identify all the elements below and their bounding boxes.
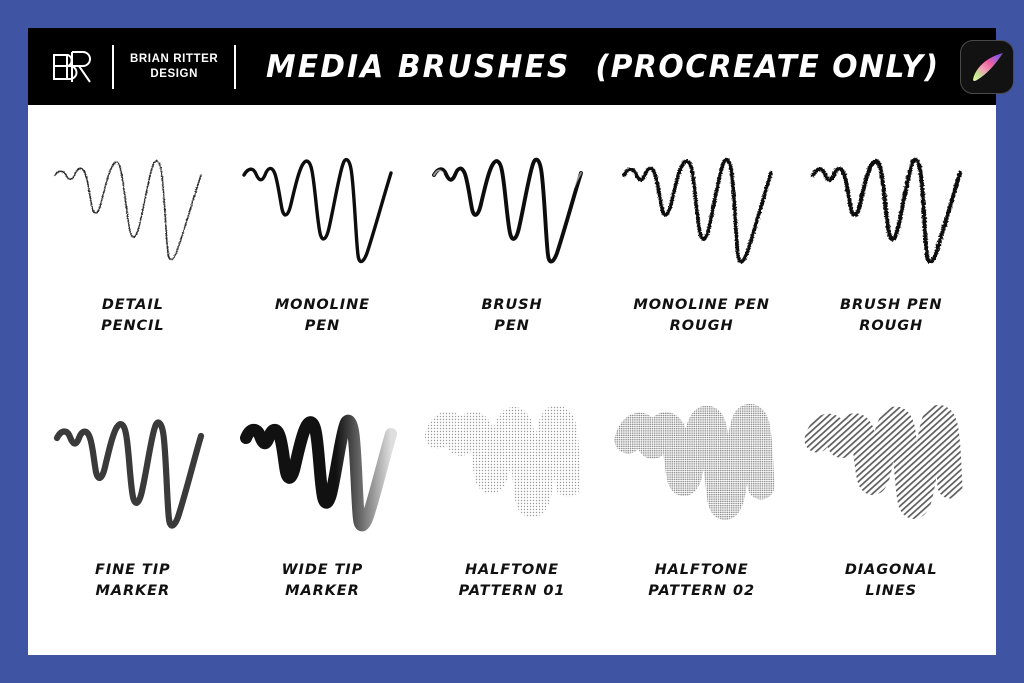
- brush-preview-halftone-pattern-02: [614, 388, 790, 546]
- brush-preview-wide-tip-marker: [234, 388, 410, 546]
- brush-cell-brush-pen-rough[interactable]: BRUSH PEN ROUGH: [796, 111, 986, 376]
- title-container: MEDIA BRUSHES (PROCREATE ONLY): [252, 49, 960, 85]
- brand-divider-left: [112, 45, 114, 89]
- brush-label: DETAIL PENCIL: [101, 295, 164, 337]
- brand-wordmark: BRIAN RITTER DESIGN: [130, 52, 218, 81]
- brush-cell-detail-pencil[interactable]: DETAIL PENCIL: [38, 111, 228, 376]
- brush-cell-fine-tip-marker[interactable]: FINE TIP MARKER: [38, 376, 228, 641]
- brush-cell-halftone-pattern-01[interactable]: HALFTONE PATTERN 01: [417, 376, 607, 641]
- brd-monogram-icon: [50, 46, 96, 88]
- brand-wordmark-line1: BRIAN RITTER: [130, 52, 218, 66]
- brush-preview-halftone-pattern-01: [424, 388, 600, 546]
- poster-header: BRIAN RITTER DESIGN MEDIA BRUSHES (PROCR…: [28, 28, 996, 105]
- brush-cell-monoline-pen-rough[interactable]: MONOLINE PEN ROUGH: [607, 111, 797, 376]
- brush-preview-fine-tip-marker: [45, 388, 221, 546]
- brush-label: DIAGONAL LINES: [845, 560, 938, 602]
- brush-cell-diagonal-lines[interactable]: DIAGONAL LINES: [796, 376, 986, 641]
- brush-preview-diagonal-lines: [803, 388, 979, 546]
- brush-label: MONOLINE PEN ROUGH: [633, 295, 769, 337]
- brush-label: FINE TIP MARKER: [95, 560, 171, 602]
- page-title-qualifier: (PROCREATE ONLY): [596, 49, 940, 85]
- brush-cell-monoline-pen[interactable]: MONOLINE PEN: [228, 111, 418, 376]
- brush-label: WIDE TIP MARKER: [282, 560, 364, 602]
- poster-canvas: BRIAN RITTER DESIGN MEDIA BRUSHES (PROCR…: [28, 28, 996, 655]
- brand-lockup: BRIAN RITTER DESIGN: [50, 45, 252, 89]
- procreate-app-icon: [960, 40, 1014, 94]
- brush-preview-monoline-pen-rough: [614, 123, 790, 281]
- brand-divider-right: [234, 45, 236, 89]
- brush-label: HALFTONE PATTERN 02: [648, 560, 755, 602]
- brush-cell-halftone-pattern-02[interactable]: HALFTONE PATTERN 02: [607, 376, 797, 641]
- brand-wordmark-line2: DESIGN: [130, 67, 218, 81]
- brush-cell-brush-pen[interactable]: BRUSH PEN: [417, 111, 607, 376]
- brush-label: HALFTONE PATTERN 01: [459, 560, 566, 602]
- page-title-main: MEDIA BRUSHES: [266, 49, 570, 85]
- brush-preview-monoline-pen: [234, 123, 410, 281]
- brush-cell-wide-tip-marker[interactable]: WIDE TIP MARKER: [228, 376, 418, 641]
- brush-label: BRUSH PEN: [481, 295, 542, 337]
- brush-label: MONOLINE PEN: [275, 295, 370, 337]
- brush-preview-detail-pencil: [45, 123, 221, 281]
- brush-preview-brush-pen-rough: [803, 123, 979, 281]
- brush-label: BRUSH PEN ROUGH: [840, 295, 942, 337]
- brush-preview-brush-pen: [424, 123, 600, 281]
- brush-grid: DETAIL PENCIL MONOLINE PEN BRUSH PEN: [28, 105, 996, 655]
- page-title: MEDIA BRUSHES (PROCREATE ONLY): [266, 49, 940, 85]
